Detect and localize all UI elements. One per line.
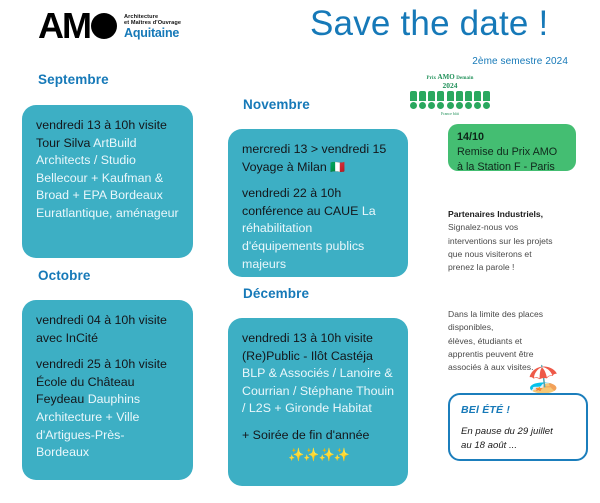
save-the-date-poster: AM Architecture et Maîtres d'Ouvrage Aqu… (0, 0, 600, 503)
note-line: prenez la parole ! (448, 261, 583, 274)
event-line: BLP & Associés / Lanoire & (242, 366, 393, 380)
event-line: vendredi 13 à 10h (36, 118, 135, 132)
note-partenaires-industriels: Partenaires Industriels, Signalez-nous v… (448, 208, 583, 275)
prix-logo-dot-row (404, 101, 496, 110)
event-line: L2S + Gironde Habitat (249, 401, 372, 415)
event-line: (Re)Public - Ilôt Castéja (242, 349, 373, 363)
prix-logo-bar-row (404, 91, 496, 101)
spacer (242, 176, 395, 185)
prix-dot-icon (419, 102, 426, 109)
event-line: vendredi 22 à 10h (242, 186, 341, 200)
prix-dot-icon (483, 102, 490, 109)
prix-dot-icon (437, 102, 444, 109)
prix-bar-icon (428, 91, 435, 101)
prix-logo-title-right: Demain (456, 76, 473, 81)
amo-aquitaine-logo: AM Architecture et Maîtres d'Ouvrage Aqu… (38, 8, 181, 44)
month-heading-september: Septembre (38, 72, 109, 87)
month-heading-december: Décembre (243, 286, 309, 301)
prix-bar-icon (474, 91, 481, 101)
prix-dot-icon (474, 102, 481, 109)
event-line: visite (139, 118, 167, 132)
summer-break-box: BEl ÉTÉ ! En pause du 29 juillet au 18 a… (448, 393, 588, 461)
event-line: Bordeaux (36, 445, 89, 459)
month-heading-october: Octobre (38, 268, 90, 283)
note-line: disponibles, (448, 321, 583, 334)
prix-dot-icon (456, 102, 463, 109)
event-line: vendredi 25 à 10h (36, 357, 135, 371)
prix-dot-icon (428, 102, 435, 109)
prix-dot-icon (410, 102, 417, 109)
event-card-prix-amo: 14/10 Remise du Prix AMO à la Station F … (448, 124, 576, 171)
prix-logo-pattern (404, 91, 496, 110)
event-card-october: vendredi 04 à 10h visite avec InCité ven… (22, 300, 193, 480)
prix-logo-title-big: AMO (437, 73, 454, 81)
logo-letters: AM (38, 8, 90, 44)
spacer (242, 418, 395, 427)
prix-bar-icon (410, 91, 417, 101)
month-heading-november: Novembre (243, 97, 310, 112)
beach-umbrella-icon: 🏖️ (527, 366, 559, 392)
event-line: conférence au CAUE (242, 204, 358, 218)
prix-bar-icon (483, 91, 490, 101)
event-card-december: vendredi 13 à 10h visite (Re)Public - Il… (228, 318, 408, 486)
page-title: Save the date ! (310, 4, 548, 44)
prix-line: Remise du Prix AMO (457, 145, 567, 160)
note-line: associés à aux visites. (448, 361, 583, 374)
note-heading: Partenaires Industriels, (448, 208, 583, 221)
note-line: apprentis peuvent être (448, 348, 583, 361)
event-line: aménageur (116, 206, 179, 220)
prix-bar-icon (419, 91, 426, 101)
prix-date: 14/10 (457, 130, 567, 145)
italy-flag-icon: 🇮🇹 (330, 160, 345, 174)
event-line-text: Voyage à Milan (242, 160, 327, 174)
prix-bar-icon (465, 91, 472, 101)
event-line: d'équipements publics (242, 239, 364, 253)
prix-bar-icon (437, 91, 444, 101)
event-card-september: vendredi 13 à 10h visite Tour Silva ArtB… (22, 105, 193, 258)
summer-break-line: au 18 août ... (461, 439, 575, 453)
summer-break-title: BEl ÉTÉ ! (461, 404, 575, 416)
prix-amo-demain-logo: Prix AMO Demain 2024 (404, 73, 496, 125)
note-line: interventions sur les projets (448, 235, 583, 248)
prix-line: à la Station F - Paris (457, 160, 567, 175)
semester-label: 2ème semestre 2024 (472, 56, 568, 67)
prix-dot-icon (465, 102, 472, 109)
event-line: majeurs (242, 257, 286, 271)
prix-dot-icon (447, 102, 454, 109)
sparkles-icon: ✨✨✨✨ (242, 446, 395, 464)
prix-bar-icon (447, 91, 454, 101)
event-line: visite (345, 331, 373, 345)
event-line: vendredi 04 à 10h (36, 313, 135, 327)
prix-logo-footer: France bâti (404, 111, 496, 116)
logo-wordmark: Architecture et Maîtres d'Ouvrage Aquita… (124, 12, 181, 41)
prix-logo-year: 2024 (404, 81, 496, 90)
logo-circle-icon (91, 13, 117, 39)
logo-mark: AM (38, 8, 117, 44)
logo-subtitle-line2: et Maîtres d'Ouvrage (124, 20, 181, 26)
spacer (36, 347, 180, 356)
summer-break-body: En pause du 29 juillet au 18 août ... (461, 425, 575, 452)
event-line: mercredi 13 > vendredi 15 (242, 142, 386, 156)
prix-logo-title-left: Prix (427, 76, 437, 81)
event-line: Voyage à Milan 🇮🇹 (242, 160, 345, 174)
prix-bar-icon (456, 91, 463, 101)
logo-region: Aquitaine (124, 27, 181, 41)
note-line: élèves, étudiants et (448, 335, 583, 348)
note-places-disponibles: Dans la limite des places disponibles, é… (448, 308, 583, 375)
summer-break-line: En pause du 29 juillet (461, 425, 575, 439)
event-line: Tour Silva (36, 136, 90, 150)
event-line: vendredi 13 à 10h (242, 331, 341, 345)
note-line: Signalez-nous vos (448, 221, 583, 234)
event-footer-line: + Soirée de fin d'année (242, 428, 369, 442)
note-line: que nous visiterons et (448, 248, 583, 261)
event-card-november: mercredi 13 > vendredi 15 Voyage à Milan… (228, 129, 408, 277)
note-line: Dans la limite des places (448, 308, 583, 321)
event-line: visite (139, 357, 167, 371)
